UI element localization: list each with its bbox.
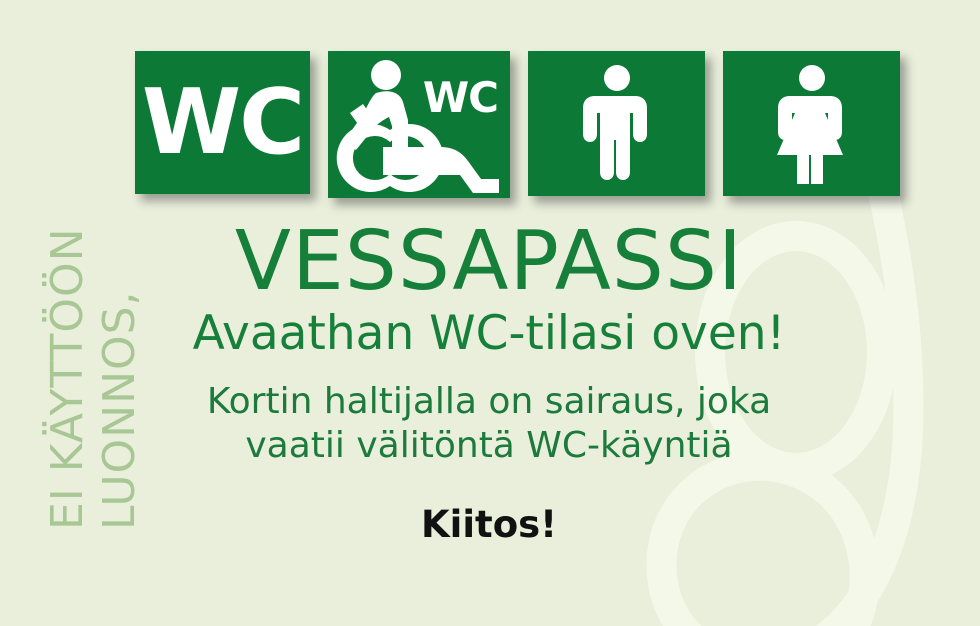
woman-pictogram-icon — [769, 64, 855, 184]
body-text-line-2: vaatii välitöntä WC-käyntiä — [130, 424, 848, 468]
vessapassi-card: LUONNOS, EI KÄYTTÖÖN WC WC — [0, 0, 980, 626]
text-block: VESSAPASSI Avaathan WC-tilasi oven! Kort… — [130, 222, 848, 543]
draft-watermark-line-2: EI KÄYTTÖÖN — [46, 227, 90, 530]
pictogram-row: WC WC — [135, 51, 900, 198]
man-pictogram-icon — [577, 64, 657, 184]
wc-text-tile: WC — [135, 51, 310, 194]
page-title: VESSAPASSI — [130, 222, 848, 302]
body-text: Kortin haltijalla on sairaus, joka vaati… — [130, 380, 848, 468]
wc-text-icon: WC — [142, 78, 303, 168]
women-tile — [723, 51, 900, 196]
accessible-wc-label: WC — [423, 77, 498, 119]
men-tile — [528, 51, 705, 196]
accessible-tile: WC — [328, 51, 510, 198]
draft-watermark: LUONNOS, EI KÄYTTÖÖN — [0, 0, 130, 626]
subtitle: Avaathan WC-tilasi oven! — [130, 308, 848, 360]
thanks-text: Kiitos! — [130, 506, 848, 543]
body-text-line-1: Kortin haltijalla on sairaus, joka — [130, 380, 848, 424]
